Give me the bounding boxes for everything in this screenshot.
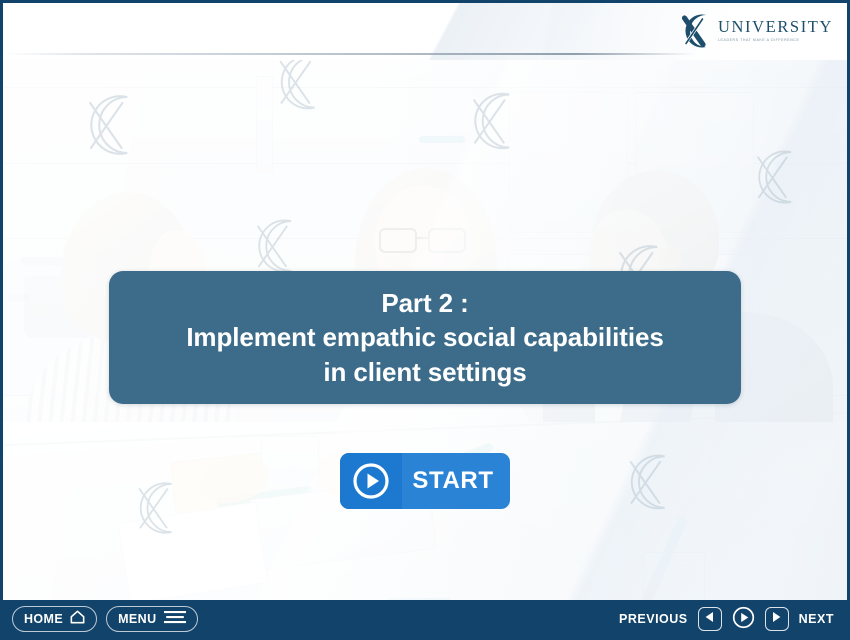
- next-label[interactable]: NEXT: [799, 612, 834, 626]
- start-button[interactable]: START: [340, 453, 510, 509]
- hamburger-menu-icon: [164, 610, 186, 627]
- brand-name: UNIVERSITY: [718, 19, 833, 36]
- play-circle-icon: [340, 453, 402, 509]
- header-divider: [3, 53, 847, 55]
- x-university-monogram-icon: [675, 11, 715, 51]
- previous-label[interactable]: PREVIOUS: [619, 612, 688, 626]
- start-button-label: START: [402, 467, 510, 495]
- brand-tagline: LEADERS THAT MAKE A DIFFERENCE: [718, 39, 833, 43]
- brand-wordmark: UNIVERSITY LEADERS THAT MAKE A DIFFERENC…: [718, 19, 833, 42]
- title-line-3: in client settings: [323, 355, 526, 390]
- menu-button[interactable]: MENU: [106, 606, 197, 632]
- menu-button-label: MENU: [118, 612, 156, 626]
- navbar-left-group: HOME MENU: [3, 606, 198, 632]
- home-button-label: HOME: [24, 612, 63, 626]
- triangle-left-icon: [704, 611, 715, 626]
- title-line-1: Part 2 :: [381, 286, 468, 321]
- home-icon: [70, 610, 85, 627]
- play-pause-button[interactable]: [732, 607, 755, 630]
- navbar-right-group: PREVIOUS: [619, 607, 847, 631]
- home-button[interactable]: HOME: [12, 606, 97, 632]
- player-navigation-bar: HOME MENU PREVIOUS: [3, 600, 847, 637]
- triangle-right-icon: [771, 611, 782, 626]
- slide-header: UNIVERSITY LEADERS THAT MAKE A DIFFERENC…: [3, 3, 847, 60]
- next-button[interactable]: [765, 607, 789, 631]
- course-slide: UNIVERSITY LEADERS THAT MAKE A DIFFERENC…: [0, 0, 850, 640]
- title-line-2: Implement empathic social capabilities: [186, 320, 663, 355]
- brand-logo: UNIVERSITY LEADERS THAT MAKE A DIFFERENC…: [675, 11, 833, 51]
- play-circle-icon: [732, 606, 755, 632]
- slide-title-card: Part 2 : Implement empathic social capab…: [109, 271, 741, 404]
- previous-button[interactable]: [698, 607, 722, 631]
